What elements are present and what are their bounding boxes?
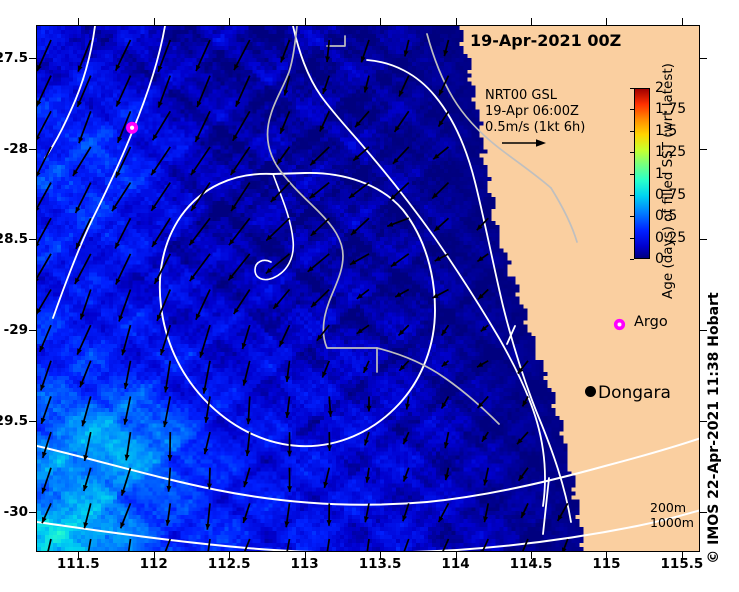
current-vector-arrow [280, 111, 289, 133]
x-tick-top [456, 18, 457, 25]
current-vector-arrow [562, 539, 568, 552]
depth-legend-1000m: 1000m [650, 515, 694, 530]
annotation-line-product: NRT00 GSL [485, 88, 585, 104]
current-vector-arrow [400, 539, 408, 552]
y-tick [29, 421, 36, 422]
current-vector-arrow [279, 325, 289, 346]
y-tick [29, 330, 36, 331]
y-axis-label: -28 [4, 141, 28, 157]
current-vector-arrow [40, 325, 51, 352]
current-vector-arrow [199, 325, 210, 357]
colorbar-tick [630, 174, 634, 175]
current-vector-arrow [161, 539, 170, 552]
colorbar-tick [630, 195, 634, 196]
current-vector-arrow [42, 468, 51, 494]
current-vector-arrow [402, 503, 409, 521]
annotation-line-scale: 0.5m/s (1kt 6h) [485, 120, 585, 136]
current-vector-arrow [153, 111, 171, 140]
current-vector-arrow [284, 503, 289, 527]
y-axis-label: -30 [4, 504, 28, 520]
current-vector-arrow [234, 290, 250, 315]
colorbar-tick [630, 88, 634, 89]
current-vector-arrow [521, 503, 528, 518]
current-vector-arrow [481, 325, 489, 331]
current-vector-arrow [443, 40, 448, 56]
current-vector-arrow [243, 503, 250, 523]
y-tick [29, 512, 36, 513]
x-axis-label: 113 [291, 556, 319, 572]
current-vector-arrow [399, 361, 408, 371]
current-vector-arrow [311, 290, 329, 308]
current-vector-arrow [285, 396, 290, 417]
current-vector-arrow [309, 183, 329, 199]
current-vector-arrow [357, 290, 369, 299]
current-vector-arrow [364, 76, 369, 93]
current-vector-arrow [483, 468, 488, 486]
x-tick-top [380, 18, 381, 25]
current-vector-arrow [483, 503, 488, 522]
x-axis-label: 115.5 [661, 556, 704, 572]
annotation-line-time: 19-Apr 06:00Z [485, 104, 585, 120]
current-vector-arrow [444, 432, 449, 448]
map-vector-overlay [37, 26, 699, 551]
current-vector-arrow [191, 183, 210, 211]
current-vector-arrow [124, 361, 131, 389]
current-vector-arrow [266, 254, 290, 274]
current-vector-arrow [433, 147, 448, 159]
current-vector-arrow [190, 254, 210, 281]
current-vector-arrow [37, 254, 51, 283]
current-vector-arrow [364, 361, 369, 373]
y-tick-right [700, 149, 707, 150]
colorbar-tick [630, 152, 634, 153]
current-vector-arrow [432, 183, 448, 199]
current-vector-arrow [37, 76, 51, 107]
current-vector-arrow [116, 76, 130, 107]
current-vector-arrow [119, 290, 131, 322]
depth-legend-200m: 200m [650, 500, 694, 515]
current-vector-arrow [246, 396, 251, 424]
x-tick-top [78, 18, 79, 25]
current-vector-arrow [364, 432, 369, 445]
current-vector-arrow [158, 40, 170, 72]
current-vector-arrow [277, 147, 290, 164]
current-vector-arrow [245, 432, 250, 456]
current-vector-arrow [41, 396, 51, 423]
current-vector-annotation: NRT00 GSL 19-Apr 06:00Z 0.5m/s (1kt 6h) [485, 88, 585, 136]
current-vector-arrow [478, 290, 488, 300]
current-vector-arrow [285, 361, 290, 382]
current-vector-arrow [308, 254, 330, 272]
x-axis-label: 115 [592, 556, 620, 572]
current-vector-arrow [325, 40, 330, 62]
current-vector-arrow [151, 183, 170, 211]
current-vector-arrow [287, 468, 292, 492]
current-vector-arrow [482, 432, 488, 442]
current-vector-arrow [399, 76, 409, 97]
current-vector-arrow [83, 468, 91, 491]
current-vector-arrow [37, 147, 51, 177]
current-vector-arrow [123, 396, 130, 424]
current-vector-arrow [231, 183, 250, 211]
current-vector-arrow [112, 183, 130, 212]
current-vector-arrow [116, 254, 131, 285]
current-vector-arrow [205, 539, 210, 552]
current-vector-arrow [404, 40, 409, 56]
current-vector-arrow [357, 325, 369, 334]
current-vector-arrow [37, 111, 51, 141]
current-vector-arrow [77, 325, 90, 354]
colorbar-title: Age (days) of filled SST (wrt latest) [660, 63, 676, 299]
current-vector-arrow [350, 254, 369, 265]
colorbar-tick [630, 131, 634, 132]
current-vector-arrow [403, 432, 408, 444]
current-vector-arrow [327, 503, 332, 525]
current-vector-arrow [231, 147, 250, 175]
current-vector-arrow [480, 539, 488, 552]
current-vector-arrow [387, 218, 409, 226]
current-vector-arrow [398, 325, 408, 335]
current-vector-arrow [327, 432, 332, 451]
current-vector-arrow [365, 468, 370, 483]
copyright-notice: © IMOS 22-Apr-2021 11:38 Hobart [706, 292, 722, 563]
colorbar[interactable] [634, 88, 650, 259]
argo-marker-icon[interactable] [613, 316, 626, 329]
current-vector-arrow [236, 76, 250, 107]
colorbar-tick [630, 109, 634, 110]
current-vector-arrow [439, 503, 449, 522]
current-vector-arrow [478, 396, 489, 408]
current-vector-arrow [311, 218, 330, 236]
contour-gray-branch-ne2 [551, 188, 577, 242]
y-axis-label: -28.5 [0, 231, 28, 247]
current-vector-arrow [365, 539, 370, 552]
current-vector-arrow [37, 218, 51, 248]
depth-contour-legend: 200m 1000m [650, 500, 694, 530]
current-vector-arrow [441, 396, 448, 408]
current-vector-arrow [80, 290, 91, 320]
current-vector-arrow [403, 468, 409, 482]
current-vector-arrow [322, 76, 329, 94]
current-vector-arrow [42, 432, 51, 458]
contour-line-nw-a [45, 26, 95, 158]
current-vector-arrow [242, 361, 249, 386]
reference-arrow-icon [500, 135, 548, 154]
current-vector-arrow [520, 539, 528, 552]
current-vector-arrow [125, 432, 131, 460]
x-tick-top [682, 18, 683, 25]
current-vector-arrow [233, 111, 250, 140]
current-vector-arrow [393, 147, 409, 164]
current-vector-arrow [76, 218, 91, 249]
current-vector-arrow [361, 40, 369, 62]
current-vector-arrow [83, 432, 90, 461]
current-vector-arrow [189, 218, 210, 245]
current-vector-arrow [121, 468, 130, 496]
current-vector-arrow [80, 361, 91, 387]
current-vector-arrow [42, 503, 51, 523]
current-vector-arrow [438, 111, 448, 126]
x-tick-top [229, 18, 230, 25]
current-vector-arrow [197, 76, 210, 107]
current-vector-arrow [435, 254, 449, 261]
contour-gray-branch-se [377, 348, 499, 424]
y-axis-label: -27.5 [0, 50, 28, 66]
current-vector-arrow [164, 361, 171, 393]
current-vector-arrow [204, 432, 210, 454]
colorbar-tick [630, 238, 634, 239]
x-axis-label: 113.5 [359, 556, 402, 572]
y-tick [29, 239, 36, 240]
current-vector-arrow [157, 290, 170, 321]
current-vector-arrow [165, 503, 170, 525]
current-vector-arrow [281, 40, 290, 62]
current-vector-arrow [349, 183, 369, 199]
contour-eddy-inner-hook [255, 174, 293, 280]
x-axis-label: 114.5 [510, 556, 553, 572]
current-vector-arrow [442, 361, 449, 367]
y-axis-label: -29 [4, 322, 28, 338]
current-vector-arrow [37, 40, 51, 71]
current-vector-arrow [163, 396, 170, 427]
current-vector-arrow [243, 468, 249, 487]
current-vector-arrow [271, 183, 290, 202]
current-vector-arrow [126, 539, 131, 552]
current-vector-arrow [76, 183, 91, 213]
current-vector-arrow [234, 40, 250, 70]
current-vector-arrow [75, 254, 91, 284]
contour-gray-eddy-core [268, 26, 377, 372]
current-vector-arrow [196, 40, 210, 71]
y-tick-right [700, 239, 707, 240]
current-vector-arrow [229, 218, 250, 245]
current-vector-arrow [355, 111, 369, 127]
current-vector-arrow [158, 76, 170, 108]
current-vector-arrow [477, 361, 488, 367]
current-vector-arrow [320, 111, 329, 131]
argo-label: Argo [634, 314, 668, 330]
current-vector-arrow [558, 503, 568, 521]
current-vector-arrow [273, 290, 289, 309]
current-vector-arrow [85, 539, 90, 552]
current-vector-arrow [205, 503, 210, 529]
current-vector-arrow [325, 539, 330, 552]
current-vector-arrow [240, 539, 250, 552]
current-vector-arrow [37, 183, 51, 213]
current-vector-arrow [191, 147, 210, 175]
current-vector-arrow [202, 361, 210, 394]
current-vector-arrow [322, 361, 329, 378]
current-vector-arrow [79, 111, 91, 143]
current-vector-arrow [328, 396, 333, 416]
x-tick-top [305, 18, 306, 25]
current-vector-arrow [81, 396, 90, 426]
current-vector-arrow [434, 218, 448, 231]
current-vector-arrow [351, 218, 369, 235]
x-axis-label: 112 [140, 556, 168, 572]
current-vector-arrow [45, 539, 51, 552]
x-axis-label: 111.5 [57, 556, 100, 572]
y-tick [29, 149, 36, 150]
current-vector-arrow [83, 503, 90, 528]
colorbar-tick [630, 259, 634, 260]
current-vector-arrow [353, 147, 369, 161]
current-vector-arrow [364, 503, 369, 522]
current-vector-arrow [115, 218, 130, 248]
current-vector-arrow [310, 147, 329, 165]
current-vector-arrow [196, 290, 210, 320]
current-vector-arrow [323, 468, 329, 488]
x-axis-label: 112.5 [208, 556, 251, 572]
current-vector-arrow [242, 325, 250, 349]
page-title: 19-Apr-2021 00Z [470, 31, 621, 50]
current-vector-arrow [442, 325, 449, 335]
map-overlay-svg [37, 26, 700, 552]
y-tick [29, 58, 36, 59]
current-vector-arrow [167, 432, 172, 461]
x-axis-label: 114 [441, 556, 469, 572]
current-vector-arrow [228, 254, 249, 280]
x-tick-top [606, 18, 607, 25]
current-vector-arrow [73, 147, 91, 176]
current-vector-arrow [195, 111, 210, 142]
dongara-label: Dongara [598, 383, 671, 403]
current-vector-arrow [366, 396, 371, 411]
current-vector-arrow [40, 361, 51, 391]
current-vector-arrow [517, 432, 528, 444]
current-vector-arrow [405, 396, 410, 409]
contour-line-nw-b [53, 26, 165, 318]
current-vector-arrow [395, 290, 409, 297]
current-vector-arrow [519, 468, 528, 481]
current-vector-arrow [120, 503, 130, 528]
argo-marker-ocean-icon[interactable] [126, 122, 138, 134]
current-vector-arrow [207, 468, 212, 490]
current-vector-arrow [395, 111, 409, 132]
y-tick-right [700, 58, 707, 59]
current-vector-arrow [151, 147, 170, 175]
y-axis-label: -29.5 [0, 413, 28, 429]
colorbar-tick [630, 216, 634, 217]
dongara-marker-icon[interactable] [585, 386, 596, 397]
x-tick-top [154, 18, 155, 25]
x-tick-top [531, 18, 532, 25]
current-vector-arrow [522, 396, 528, 406]
current-vector-arrow [444, 468, 449, 481]
current-vector-arrow [391, 254, 409, 267]
current-vector-arrow [37, 290, 51, 315]
current-vector-arrow [266, 218, 289, 240]
current-vector-arrow [121, 325, 130, 355]
current-vector-arrow [116, 40, 131, 71]
map-figure: 111.5112112.5113113.5114114.5115115.5 -2… [0, 0, 739, 592]
current-vector-arrow [477, 254, 488, 262]
map-axes[interactable] [36, 25, 700, 552]
